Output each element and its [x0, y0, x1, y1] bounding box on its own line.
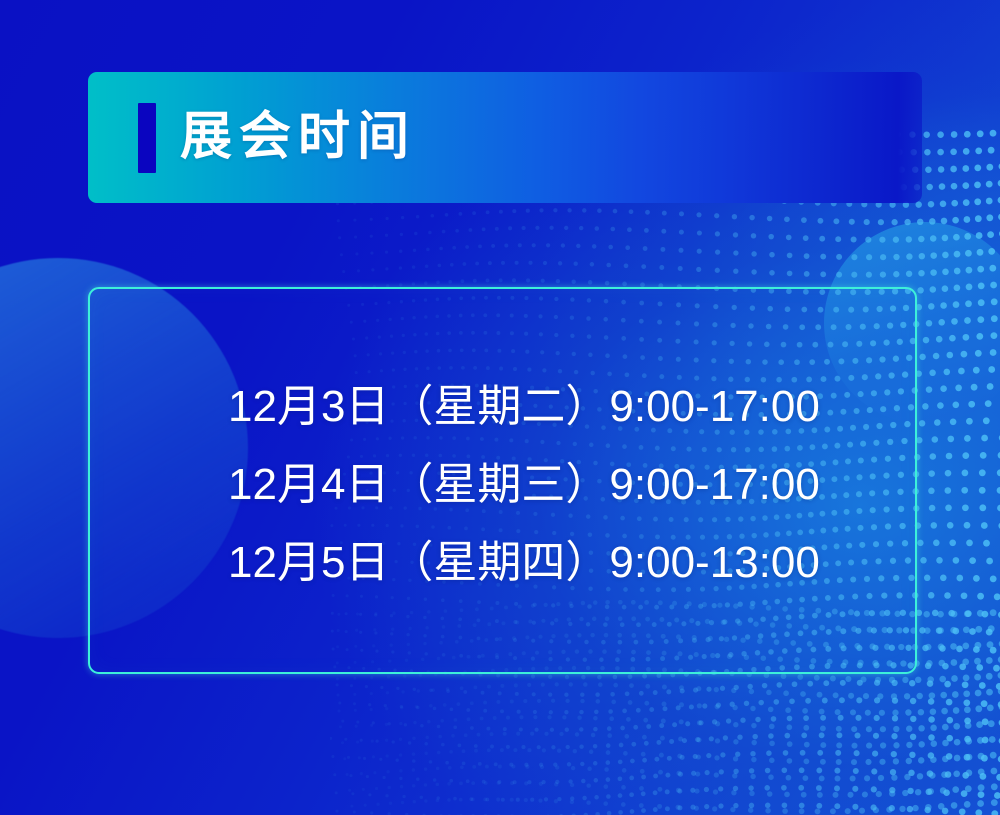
schedule-list: 12月3日（星期二）9:00-17:00 12月4日（星期三）9:00-17:0… — [228, 368, 848, 602]
schedule-line: 12月3日（星期二）9:00-17:00 — [228, 368, 848, 446]
page-title: 展会时间 — [180, 96, 416, 178]
section-header-banner: 展会时间 — [88, 72, 922, 203]
schedule-line: 12月4日（星期三）9:00-17:00 — [228, 446, 848, 524]
schedule-line: 12月5日（星期四）9:00-13:00 — [228, 524, 848, 602]
header-accent-bar — [138, 103, 156, 173]
poster-canvas: 展会时间 12月3日（星期二）9:00-17:00 12月4日（星期三）9:00… — [0, 0, 1000, 815]
